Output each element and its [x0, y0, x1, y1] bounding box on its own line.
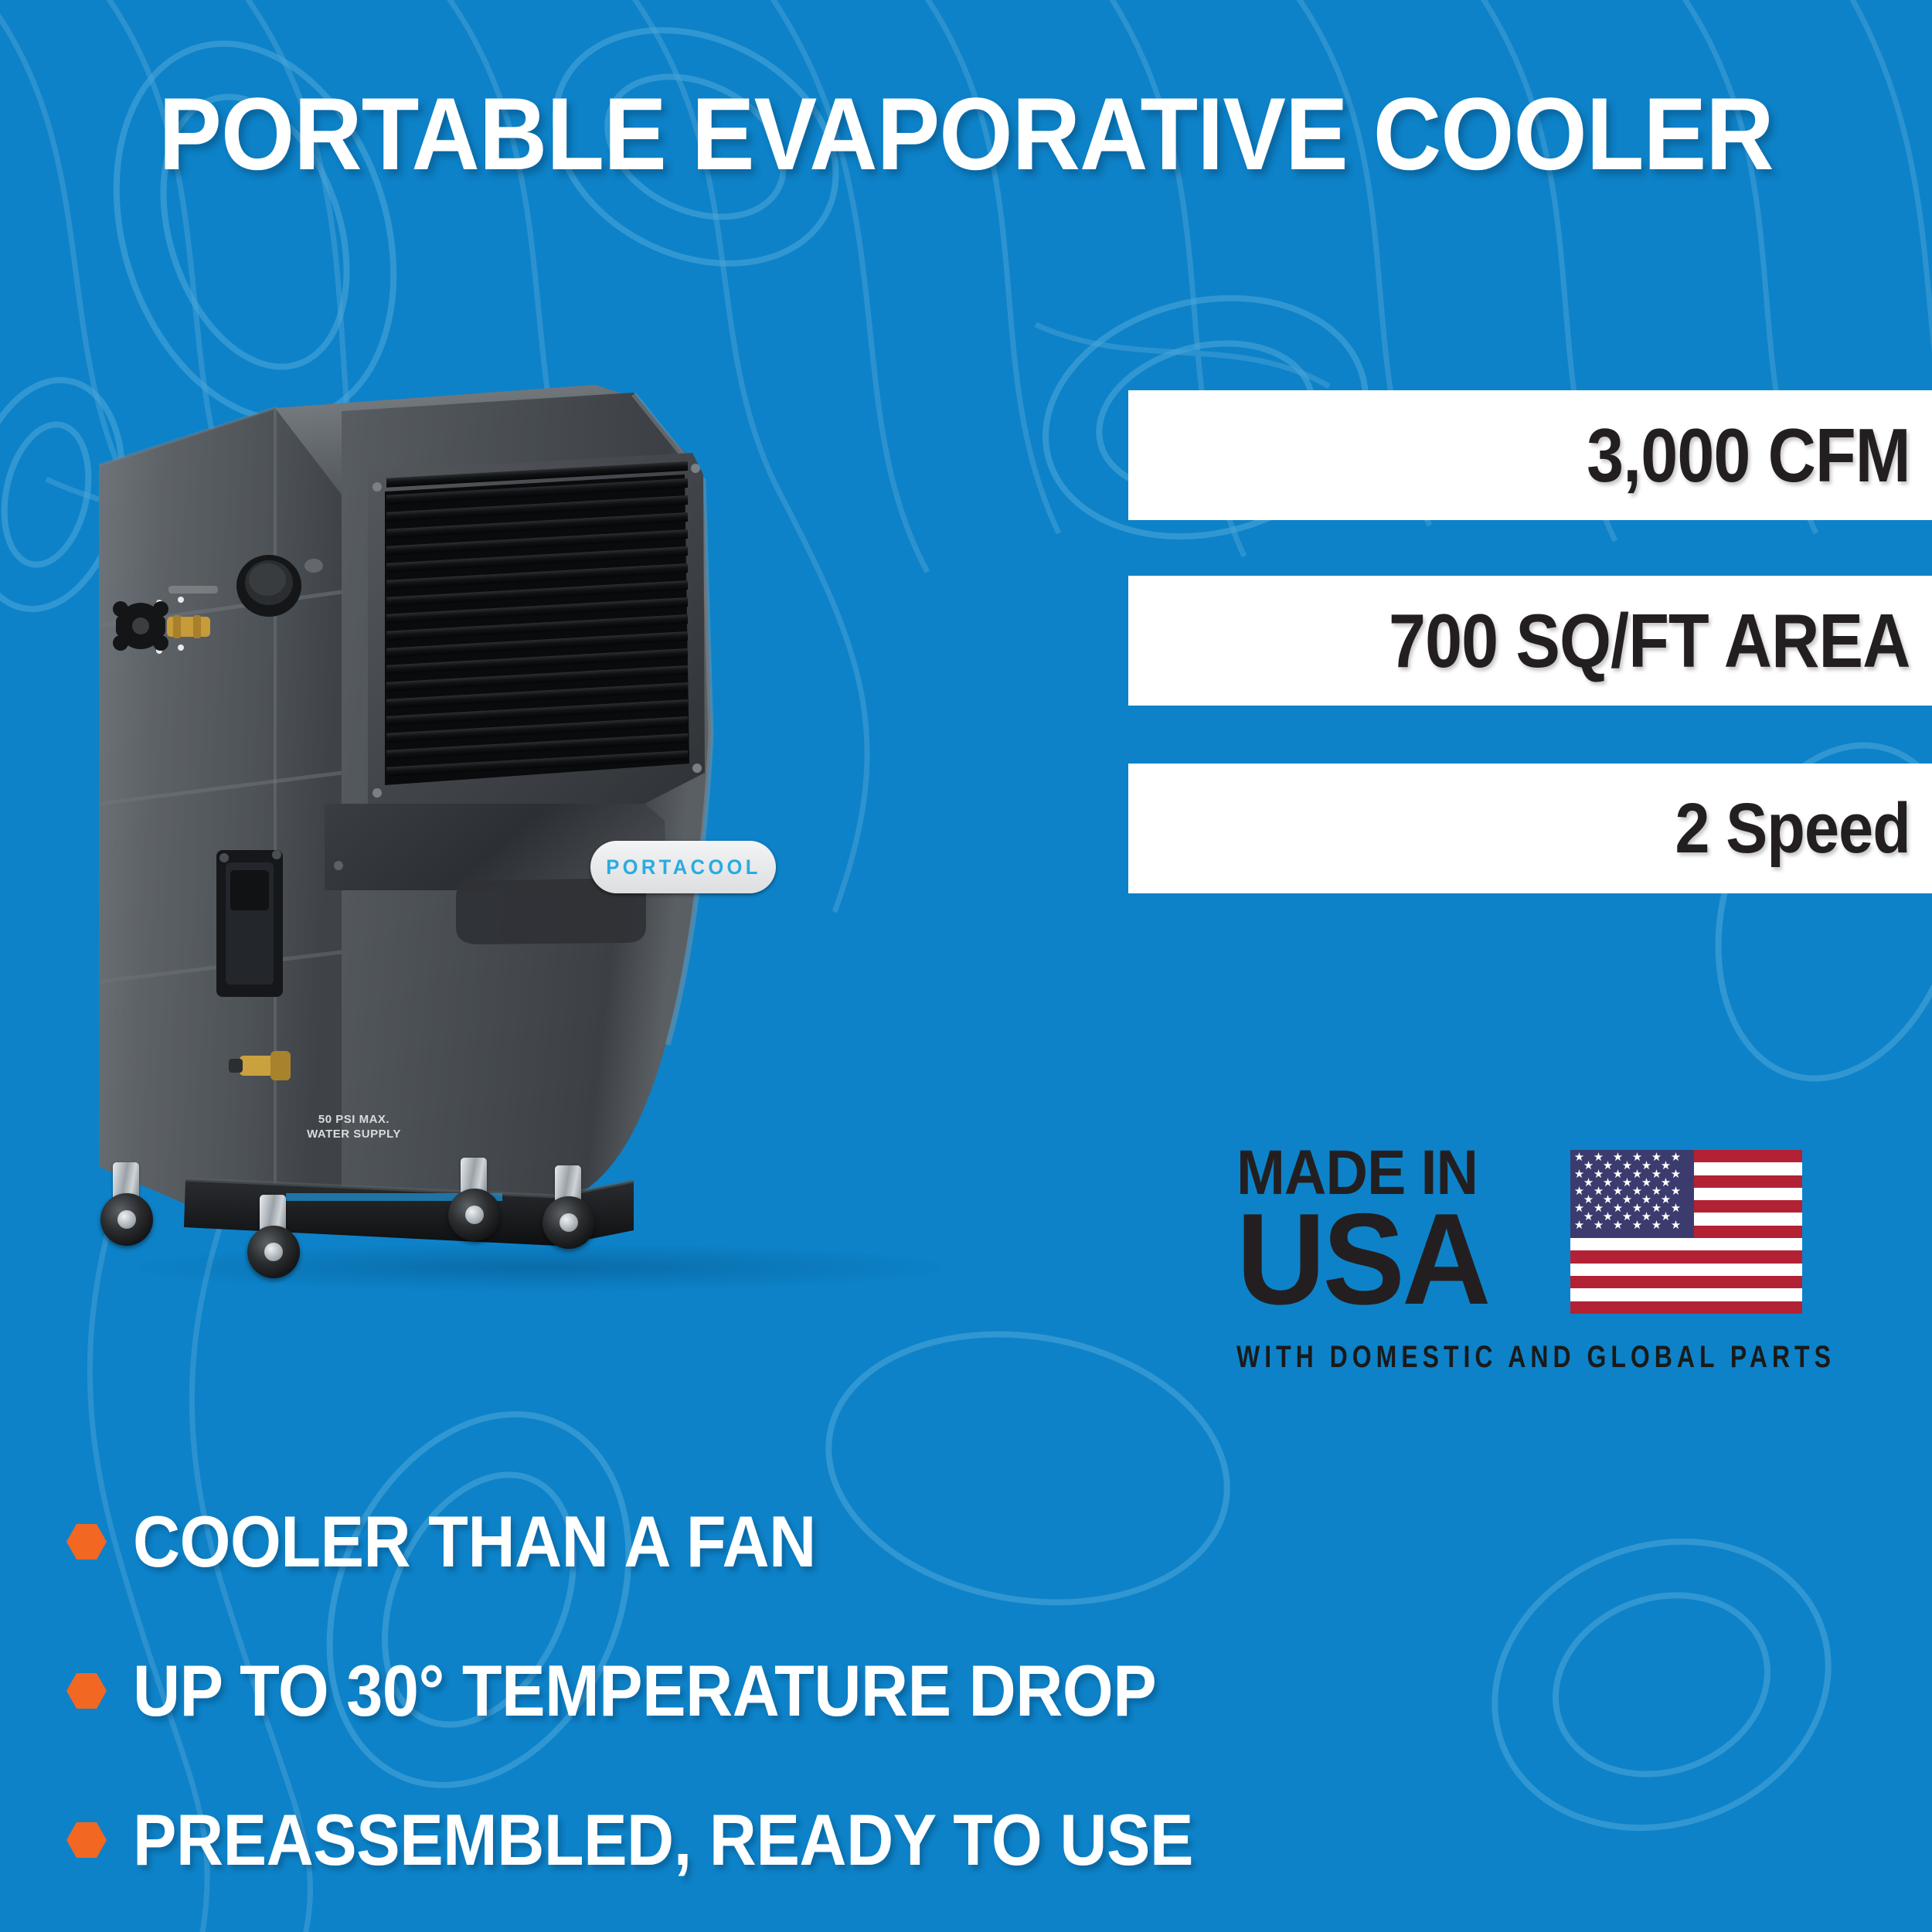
- usa-text: USA: [1236, 1205, 1618, 1314]
- list-item: UP TO 30° TEMPERATURE DROP: [66, 1641, 1767, 1741]
- bullet-label: COOLER THAN A FAN: [133, 1505, 816, 1578]
- portacool-brand-plate: PORTACOOL: [590, 841, 776, 893]
- portacool-logo-text: PORTACOOL: [606, 857, 760, 878]
- psi-warning-line1: 50 PSI MAX.: [292, 1113, 416, 1128]
- caster-hub: [465, 1206, 484, 1224]
- hexagon-bullet-icon: [66, 1673, 107, 1709]
- bullet-label: PREASSEMBLED, READY TO USE: [133, 1804, 1193, 1876]
- product-image: PORTACOOL 50 PSI MAX. WATER SUPPLY: [93, 371, 1020, 1376]
- feature-bullet-list: COOLER THAN A FAN UP TO 30° TEMPERATURE …: [66, 1492, 1767, 1932]
- cooler-body-svg: [93, 371, 889, 1283]
- made-in-usa-subtitle: WITH DOMESTIC AND GLOBAL PARTS: [1236, 1342, 1762, 1372]
- caster-hub: [117, 1210, 136, 1229]
- us-flag-icon: ★ ★ ★ ★ ★ ★ ★ ★ ★ ★ ★ ★ ★ ★ ★ ★ ★ ★ ★ ★: [1570, 1150, 1802, 1314]
- caster-hub: [560, 1213, 578, 1232]
- hexagon-bullet-icon: [66, 1822, 107, 1858]
- spec-label-area: 700 SQ/FT AREA: [1389, 603, 1910, 679]
- flag-canton: ★ ★ ★ ★ ★ ★ ★ ★ ★ ★ ★ ★ ★ ★ ★ ★ ★ ★ ★ ★: [1570, 1150, 1694, 1238]
- caster-hub: [264, 1243, 283, 1261]
- spec-box-speed: 2 Speed: [1128, 764, 1932, 893]
- psi-warning-line2: WATER SUPPLY: [292, 1128, 416, 1142]
- psi-warning-label: 50 PSI MAX. WATER SUPPLY: [292, 1113, 416, 1142]
- hexagon-bullet-icon: [66, 1524, 107, 1560]
- spec-label-cfm: 3,000 CFM: [1587, 417, 1910, 493]
- list-item: COOLER THAN A FAN: [66, 1492, 1767, 1592]
- made-in-usa-badge: MADE IN USA ★ ★ ★ ★ ★ ★ ★ ★ ★ ★ ★: [1236, 1144, 1893, 1376]
- spec-label-speed: 2 Speed: [1675, 793, 1910, 864]
- list-item: PREASSEMBLED, READY TO USE: [66, 1790, 1767, 1890]
- spec-box-area: 700 SQ/FT AREA: [1128, 576, 1932, 706]
- page-title: PORTABLE EVAPORATIVE COOLER: [77, 83, 1855, 186]
- bullet-label: UP TO 30° TEMPERATURE DROP: [133, 1655, 1156, 1727]
- product-feature-graphic: PORTABLE EVAPORATIVE COOLER: [0, 0, 1932, 1932]
- spec-box-cfm: 3,000 CFM: [1128, 390, 1932, 520]
